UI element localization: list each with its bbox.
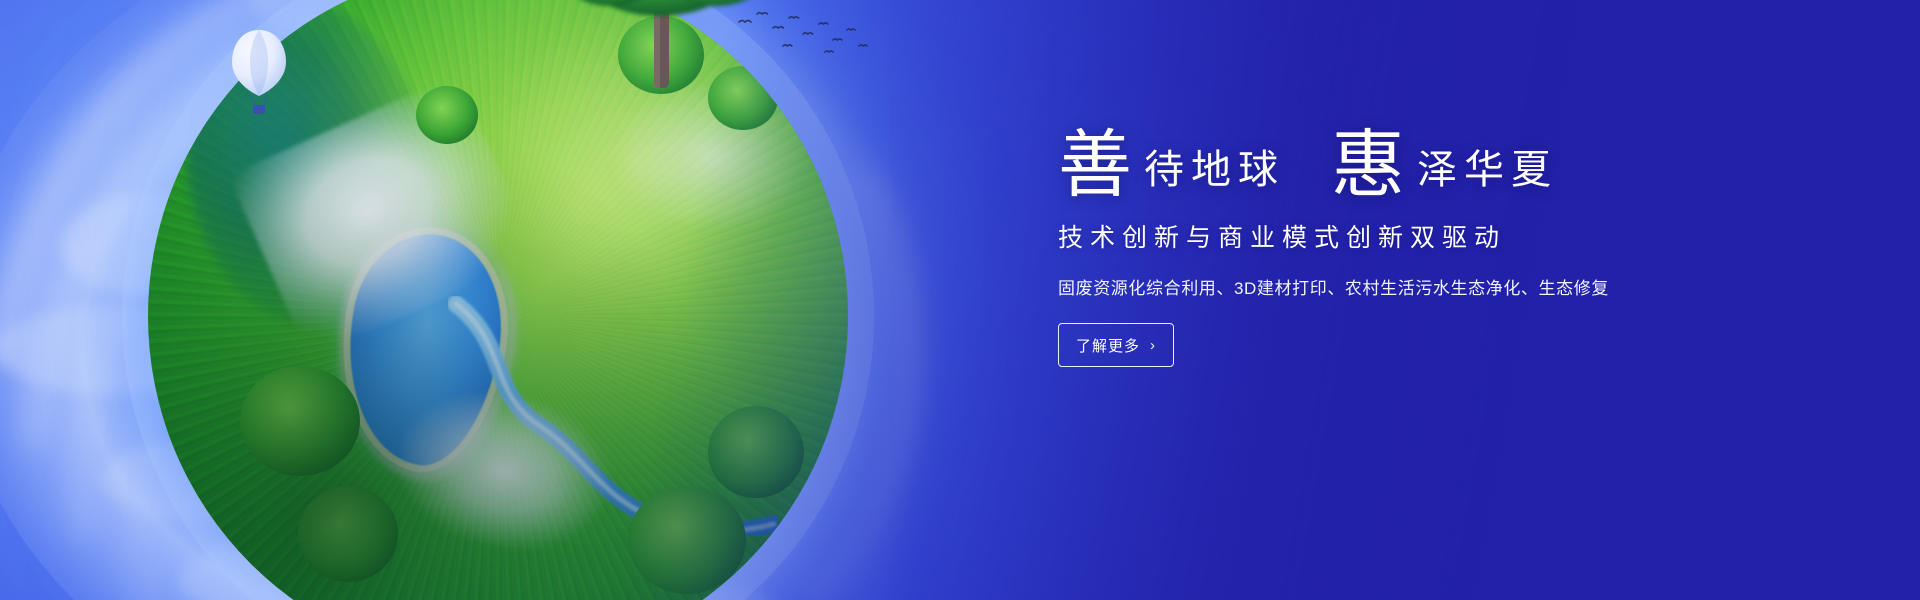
headline-part2-big: 惠	[1331, 128, 1405, 202]
headline-part1-big: 善	[1058, 128, 1132, 202]
hero-banner: 善 待地球 惠 泽华夏 技术创新与商业模式创新双驱动 固废资源化综合利用、3D建…	[0, 0, 1920, 600]
hero-description: 固废资源化综合利用、3D建材打印、农村生活污水生态净化、生态修复	[1058, 274, 1858, 299]
learn-more-label: 了解更多	[1076, 335, 1140, 356]
headline-part2-small: 泽华夏	[1417, 150, 1558, 190]
headline-part1-small: 待地球	[1144, 150, 1285, 190]
chevron-right-icon: ›	[1150, 338, 1156, 353]
flying-birds	[733, 4, 873, 64]
hero-subtitle: 技术创新与商业模式创新双驱动	[1058, 218, 1858, 254]
page-title: 善 待地球 惠 泽华夏	[1058, 122, 1858, 196]
hot-air-balloon-icon	[228, 26, 290, 122]
learn-more-button[interactable]: 了解更多 ›	[1058, 323, 1174, 367]
hero-text-block: 善 待地球 惠 泽华夏 技术创新与商业模式创新双驱动 固废资源化综合利用、3D建…	[1058, 122, 1858, 367]
